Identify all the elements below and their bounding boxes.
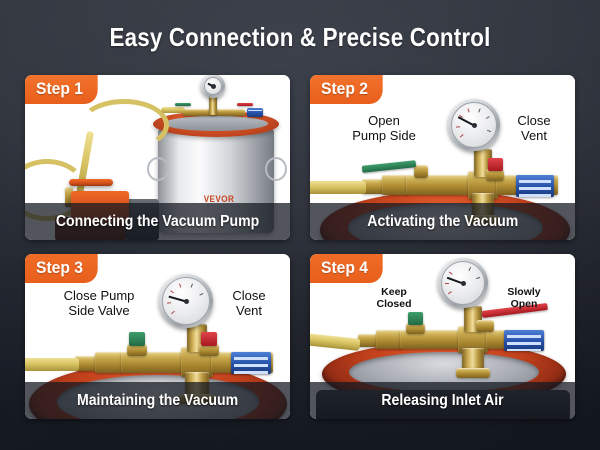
step-4-caption: Releasing Inlet Air xyxy=(310,382,575,419)
step-panel-1[interactable]: VEVOR Step 1 Connecting the Vacuum Pump xyxy=(25,75,290,240)
annotation-vent: Close Vent xyxy=(498,113,570,144)
pressure-gauge xyxy=(159,274,213,328)
vacuum-hose xyxy=(310,181,366,194)
vent-valve-handle-closed xyxy=(488,158,503,171)
annotation-slowly-open: Slowly Open xyxy=(486,286,562,311)
steps-grid: VEVOR Step 1 Connecting the Vacuum Pump xyxy=(25,75,575,419)
chamber-handle-right xyxy=(265,157,287,181)
pump-side-valve-handle xyxy=(175,103,191,106)
step-panel-3[interactable]: Close Pump Side Valve Close Vent Step 3 … xyxy=(25,254,290,419)
vent-valve-body xyxy=(476,320,494,332)
annotation-line-1: Close Pump xyxy=(41,288,157,303)
hose-nut xyxy=(95,352,123,373)
annotation-line-2: Pump Side xyxy=(338,128,430,143)
blue-inlet-fitting xyxy=(247,108,263,117)
manifold-base-flange xyxy=(456,368,490,378)
step-1-caption-text: Connecting the Vacuum Pump xyxy=(56,213,259,231)
chamber-lid-ring xyxy=(164,116,267,131)
step-panel-2[interactable]: Open Pump Side Close Vent Step 2 Activat… xyxy=(310,75,575,240)
gauge-hub xyxy=(211,84,216,89)
blue-inlet-fitting xyxy=(516,175,554,197)
annotation-line-1: Close xyxy=(498,113,570,128)
annotation-line-1: Keep xyxy=(354,286,434,298)
vent-valve-handle-closed xyxy=(201,332,217,346)
step-3-badge: Step 3 xyxy=(25,254,98,283)
annotation-vent: Close Vent xyxy=(215,288,283,319)
chamber-handle-left xyxy=(147,157,169,181)
annotation-line-1: Close xyxy=(215,288,283,303)
pressure-gauge xyxy=(448,99,500,151)
gauge-hub xyxy=(461,281,466,286)
annotation-line-1: Slowly xyxy=(486,286,562,298)
step-2-badge: Step 2 xyxy=(310,75,383,104)
step-1-badge: Step 1 xyxy=(25,75,98,104)
gauge-face xyxy=(204,77,222,95)
step-1-caption: Connecting the Vacuum Pump xyxy=(25,203,290,240)
pump-carry-handle xyxy=(69,179,113,186)
hose-nut xyxy=(376,330,402,349)
step-3-caption-text: Maintaining the Vacuum xyxy=(77,392,238,410)
annotation-pump-side: Open Pump Side xyxy=(338,113,430,144)
pump-side-valve-handle-closed xyxy=(129,332,145,346)
vacuum-hose-inlet xyxy=(161,107,185,113)
vent-valve-handle xyxy=(237,103,253,106)
gauge-face xyxy=(451,102,497,148)
step-4-badge: Step 4 xyxy=(310,254,383,283)
step-2-caption-text: Activating the Vacuum xyxy=(367,213,518,231)
pump-side-valve-handle-open xyxy=(362,160,416,173)
vacuum-hose xyxy=(25,358,79,371)
annotation-line-2: Open xyxy=(486,298,562,310)
pump-side-valve-body xyxy=(414,165,428,178)
blue-inlet-fitting xyxy=(504,330,544,351)
step-3-caption: Maintaining the Vacuum xyxy=(25,382,290,419)
pressure-gauge xyxy=(438,258,488,308)
gauge-face xyxy=(162,277,210,325)
vacuum-hose xyxy=(310,333,360,351)
page-title: Easy Connection & Precise Control xyxy=(42,22,558,53)
vacuum-hose-arc xyxy=(79,99,169,151)
annotation-line-2: Vent xyxy=(498,128,570,143)
hose-nut xyxy=(382,175,408,195)
gauge-hub xyxy=(472,123,477,128)
annotation-line-2: Closed xyxy=(354,298,434,310)
step-panel-4[interactable]: Keep Closed Slowly Open Step 4 Releasing… xyxy=(310,254,575,419)
gauge-face xyxy=(441,261,485,305)
annotation-keep-closed: Keep Closed xyxy=(354,286,434,311)
pressure-gauge xyxy=(201,75,225,98)
annotation-line-2: Side Valve xyxy=(41,303,157,318)
step-2-caption: Activating the Vacuum xyxy=(310,203,575,240)
pump-side-valve-handle-closed xyxy=(408,312,423,325)
step-4-caption-text: Releasing Inlet Air xyxy=(381,392,503,410)
blue-inlet-fitting xyxy=(231,352,271,374)
hose-coupler xyxy=(358,334,378,347)
annotation-line-1: Open xyxy=(338,113,430,128)
annotation-line-2: Vent xyxy=(215,303,283,318)
gauge-hub xyxy=(184,299,189,304)
annotation-pump-side-valve: Close Pump Side Valve xyxy=(41,288,157,319)
